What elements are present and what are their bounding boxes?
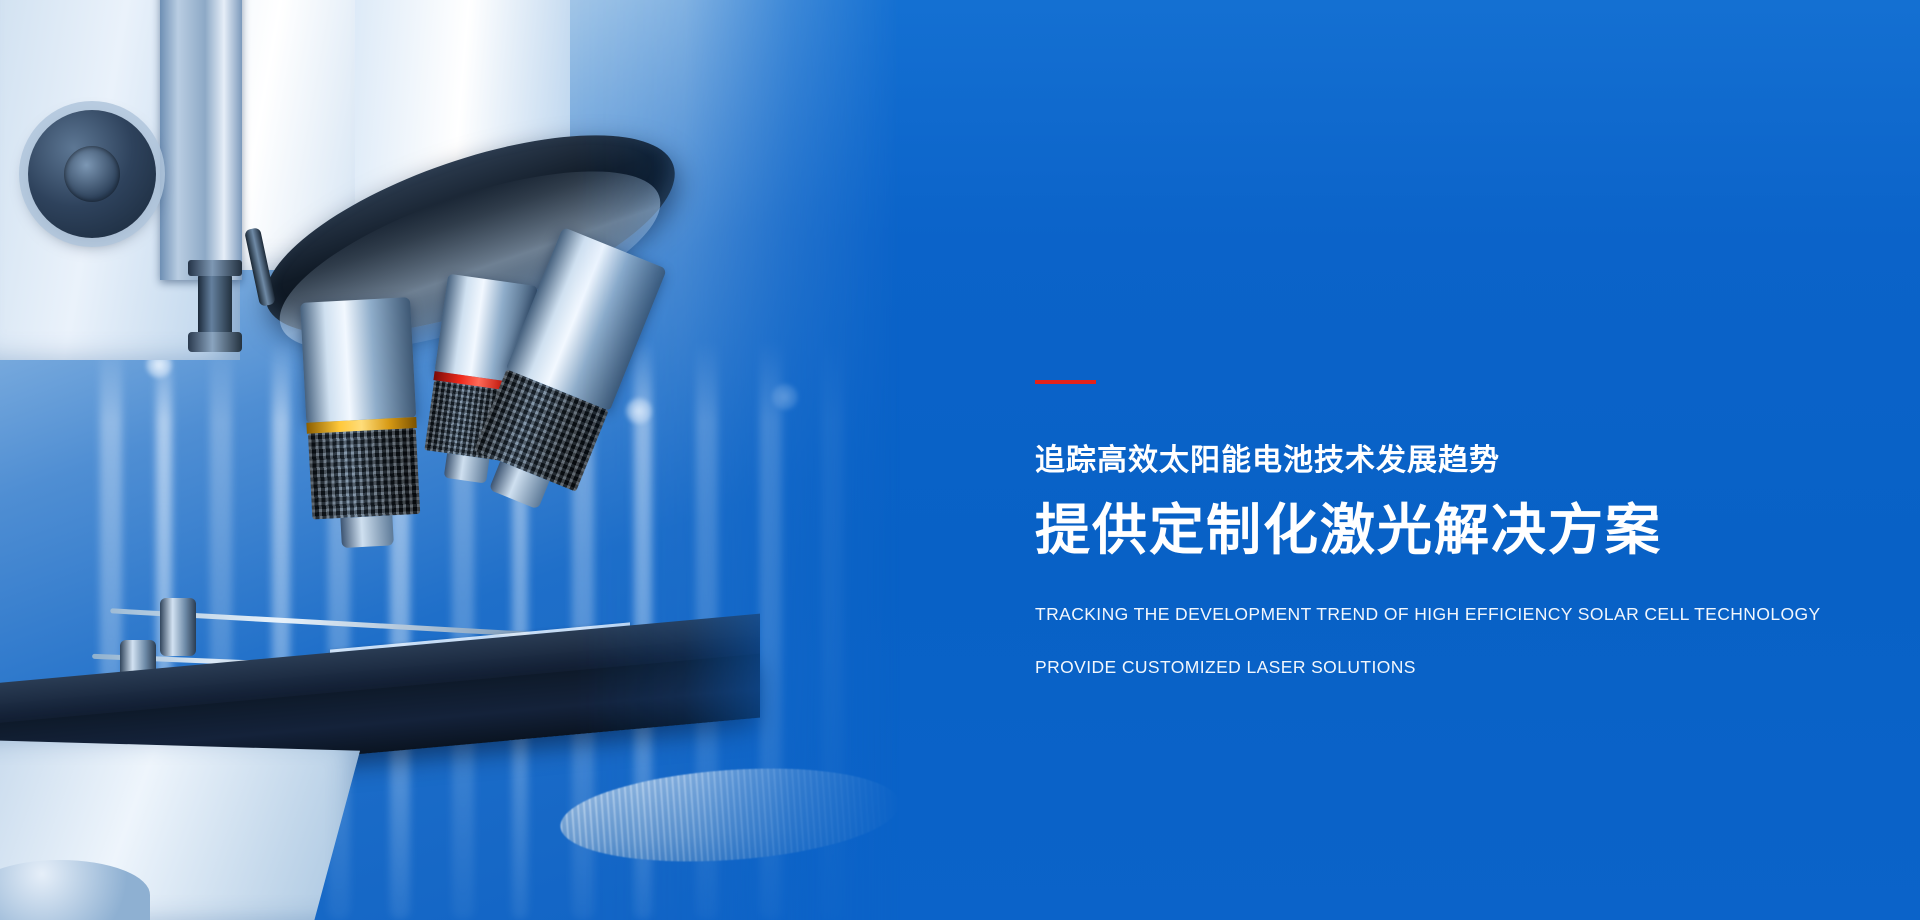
slide-holder-post-a — [160, 598, 196, 656]
microscope-photo — [0, 0, 900, 920]
objective-barrel — [300, 297, 416, 423]
thumb-screw — [198, 272, 232, 342]
hero-banner: 追踪高效太阳能电池技术发展趋势 提供定制化激光解决方案 TRACKING THE… — [0, 0, 1920, 920]
hero-headline: 提供定制化激光解决方案 — [1035, 502, 1875, 560]
hero-subtitle-line-1: TRACKING THE DEVELOPMENT TREND OF HIGH E… — [1035, 606, 1875, 624]
objective-tip — [340, 515, 393, 548]
microscope-rail — [160, 0, 242, 280]
objective-knurling — [308, 428, 420, 520]
objective-lens-yellow — [300, 297, 423, 549]
hero-content: 追踪高效太阳能电池技术发展趋势 提供定制化激光解决方案 TRACKING THE… — [1035, 380, 1875, 677]
accent-rule — [1035, 380, 1096, 384]
focus-knob — [28, 110, 156, 238]
hero-subtitle-line-2: PROVIDE CUSTOMIZED LASER SOLUTIONS — [1035, 659, 1875, 677]
hero-kicker: 追踪高效太阳能电池技术发展趋势 — [1035, 446, 1875, 476]
